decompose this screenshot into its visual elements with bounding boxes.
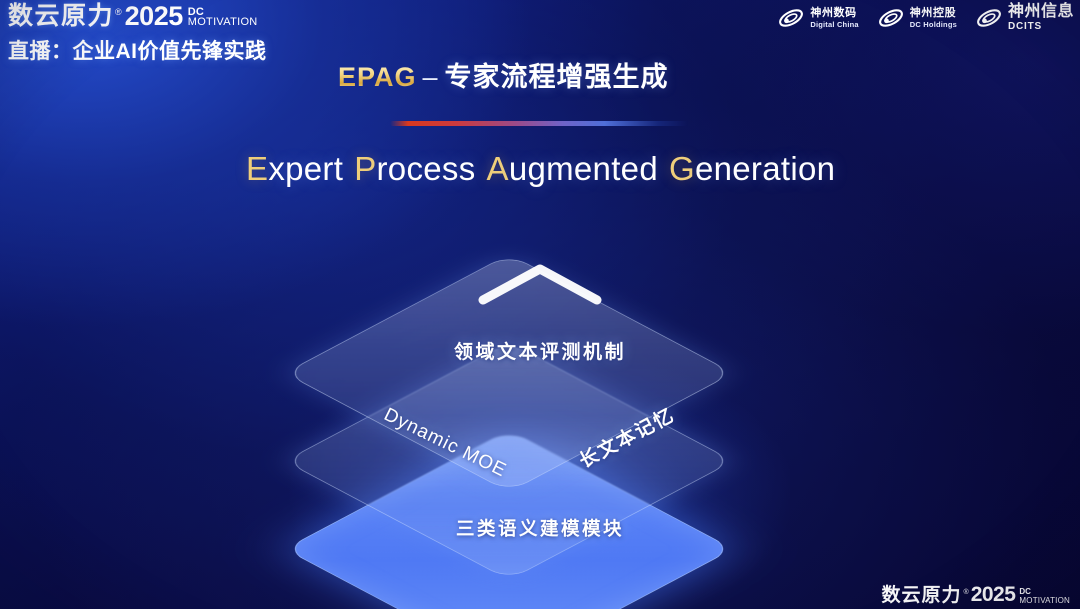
title-acronym: EPAG <box>338 62 417 92</box>
partner-logo-bar: 神州数码 Digital China 神州控股 DC Holdings <box>777 4 1074 32</box>
swirl-logo-icon <box>777 5 805 31</box>
partner-logo-digital-china: 神州数码 Digital China <box>777 5 858 31</box>
subtitle-word-process: Process <box>354 150 475 188</box>
watermark-year: 2025 <box>971 584 1016 605</box>
watermark-name-cn: 数云原力 <box>882 586 962 605</box>
partner-label: 神州控股 DC Holdings <box>910 8 957 29</box>
subtitle-initial: P <box>354 150 376 187</box>
brand-dc-motivation: DC MOTIVATION <box>188 7 258 28</box>
brand-year: 2025 <box>125 3 183 30</box>
partner-name-cn: 神州控股 <box>910 8 957 19</box>
page-title: EPAG–专家流程增强生成 <box>338 55 669 94</box>
partner-name-cn: 神州信息 <box>1008 4 1074 20</box>
live-session-title: 直播：企业AI价值先锋实践 <box>8 35 313 65</box>
layered-architecture-diagram: 领域文本评测机制 Dynamic MOE 长文本记忆 三类语义建模模块 <box>240 210 840 600</box>
registered-mark: ® <box>115 8 122 17</box>
partner-name-en: DC Holdings <box>910 21 957 29</box>
brand-name-cn: 数云原力 <box>8 4 114 29</box>
subtitle-rest: xpert <box>268 150 343 187</box>
swirl-logo-icon <box>877 5 905 31</box>
subtitle-word-augmented: Augmented <box>487 150 659 188</box>
watermark-motivation-label: MOTIVATION <box>1019 596 1070 605</box>
subtitle-initial: E <box>246 150 268 187</box>
subtitle-rest: rocess <box>377 150 476 187</box>
subtitle-expansion: ExpertProcessAugmentedGeneration <box>246 150 846 188</box>
partner-name-en: DCITS <box>1008 22 1074 32</box>
partner-label: DCITS 神州信息 <box>1008 4 1074 32</box>
brand-watermark: 数云原力 ® 2025 DC MOTIVATION <box>882 584 1071 605</box>
watermark-dc-motivation: DC MOTIVATION <box>1019 588 1070 605</box>
subtitle-initial: G <box>669 150 695 187</box>
slide-canvas: 数云原力 ® 2025 DC MOTIVATION 直播：企业AI价值先锋实践 … <box>0 0 1080 609</box>
brand-logo: 数云原力 ® 2025 DC MOTIVATION <box>8 2 313 29</box>
partner-logo-dc-holdings: 神州控股 DC Holdings <box>877 5 957 31</box>
subtitle-rest: ugmented <box>509 150 658 187</box>
brand-block: 数云原力 ® 2025 DC MOTIVATION 直播：企业AI价值先锋实践 <box>8 2 313 65</box>
subtitle-rest: eneration <box>695 150 835 187</box>
partner-logo-dcits: DCITS 神州信息 <box>975 4 1074 32</box>
swirl-logo-icon <box>975 5 1003 31</box>
subtitle-initial: A <box>487 150 509 187</box>
subtitle-word-expert: Expert <box>246 150 343 188</box>
title-chinese: 专家流程增强生成 <box>445 62 669 92</box>
partner-label: 神州数码 Digital China <box>810 8 858 29</box>
partner-name-cn: 神州数码 <box>810 8 858 19</box>
subtitle-word-generation: Generation <box>669 150 835 188</box>
gradient-divider <box>390 121 688 126</box>
watermark-dc-label: DC <box>1019 588 1070 596</box>
title-dash: – <box>423 62 439 92</box>
watermark-registered-mark: ® <box>964 589 969 596</box>
partner-name-en: Digital China <box>810 21 858 29</box>
brand-motivation-label: MOTIVATION <box>188 17 258 28</box>
